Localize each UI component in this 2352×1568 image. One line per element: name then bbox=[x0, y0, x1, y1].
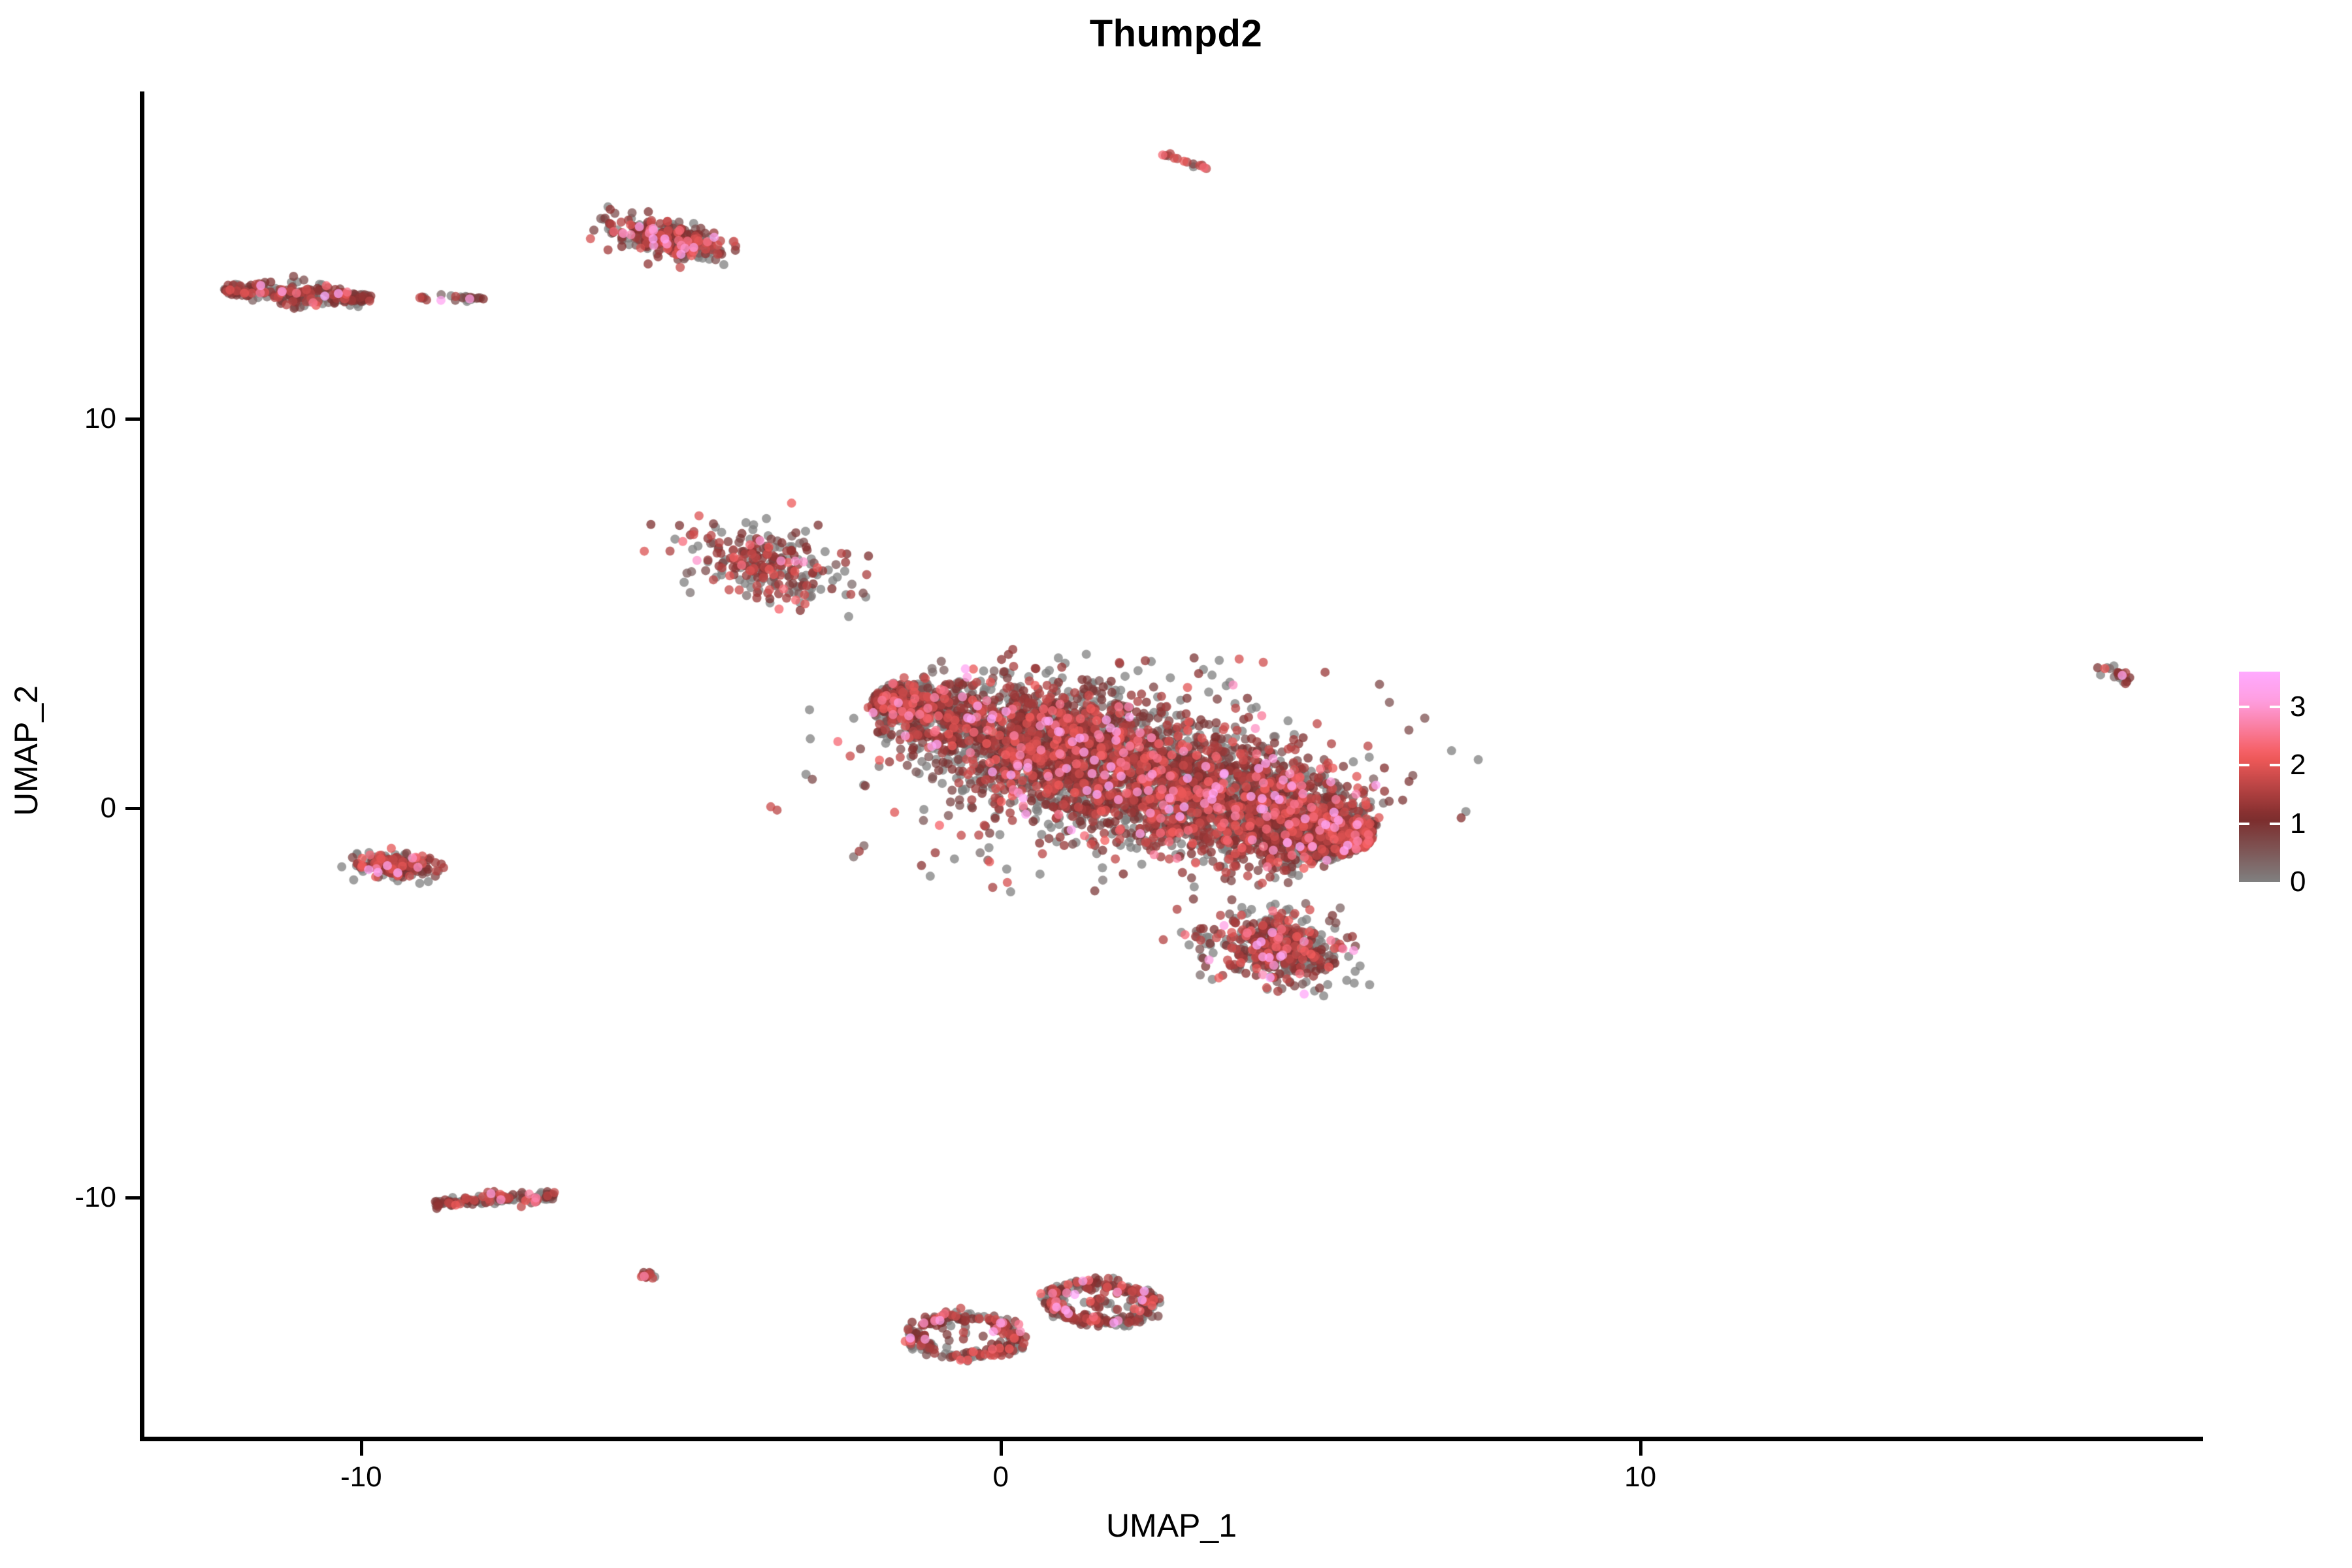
x-tick-mark bbox=[1639, 1441, 1642, 1456]
y-tick-label: 10 bbox=[0, 402, 116, 435]
y-tick-label: -10 bbox=[0, 1181, 116, 1214]
colorbar-tick-mark bbox=[2239, 764, 2249, 766]
scatter-points-layer bbox=[144, 91, 2203, 1439]
colorbar-gradient bbox=[2239, 672, 2280, 882]
colorbar-tick-mark bbox=[2270, 706, 2280, 708]
x-tick-label: -10 bbox=[340, 1461, 382, 1494]
y-tick-mark bbox=[125, 417, 140, 421]
y-axis-title: UMAP_2 bbox=[7, 555, 45, 947]
plot-panel bbox=[144, 91, 2203, 1439]
colorbar-tick-mark bbox=[2270, 764, 2280, 766]
colorbar-tick-label: 2 bbox=[2290, 749, 2306, 781]
colorbar-tick-label: 0 bbox=[2290, 866, 2306, 898]
colorbar-tick-mark bbox=[2270, 823, 2280, 825]
x-axis-line bbox=[140, 1437, 2203, 1441]
umap-feature-plot: Thumpd2 -10010 -10010 UMAP_1 UMAP_2 0123 bbox=[0, 0, 2352, 1568]
y-tick-mark bbox=[125, 807, 140, 810]
colorbar-tick-label: 3 bbox=[2290, 691, 2306, 723]
colorbar-legend: 0123 bbox=[2239, 672, 2350, 883]
x-axis-title: UMAP_1 bbox=[140, 1507, 2203, 1544]
y-axis-line bbox=[140, 91, 144, 1441]
x-tick-label: 10 bbox=[1624, 1461, 1656, 1494]
x-tick-mark bbox=[1000, 1441, 1003, 1456]
x-tick-mark bbox=[360, 1441, 363, 1456]
colorbar-tick-label: 1 bbox=[2290, 808, 2306, 840]
y-tick-mark bbox=[125, 1196, 140, 1200]
colorbar-tick-mark bbox=[2239, 823, 2249, 825]
colorbar-tick-mark bbox=[2239, 706, 2249, 708]
x-tick-label: 0 bbox=[992, 1461, 1008, 1494]
page-title: Thumpd2 bbox=[0, 12, 2352, 56]
